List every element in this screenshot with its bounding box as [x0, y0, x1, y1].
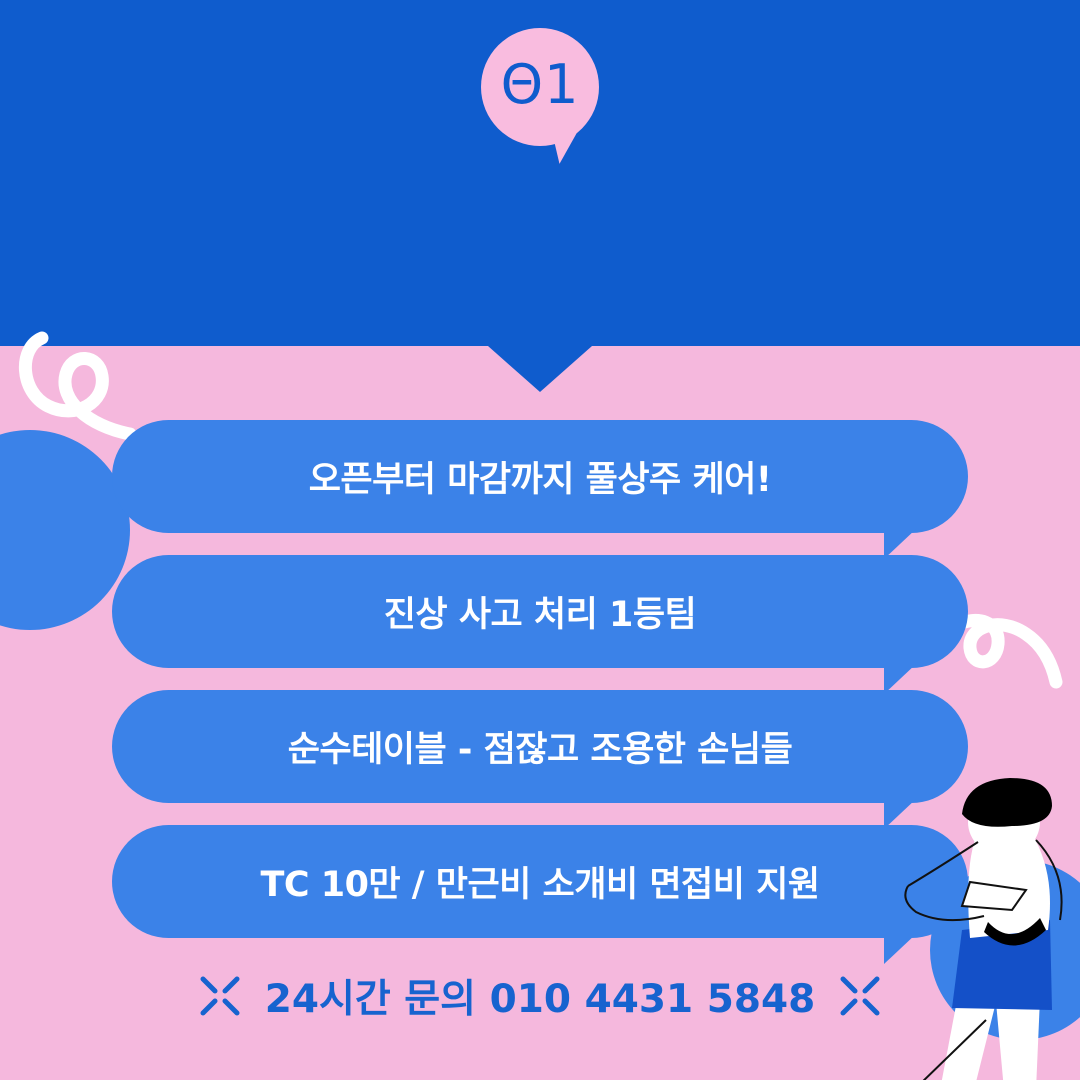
list-item[interactable]: 순수테이블 - 점잖고 조용한 손님들 — [112, 690, 968, 803]
sparkle-icon — [837, 973, 883, 1019]
bubble-3[interactable]: 순수테이블 - 점잖고 조용한 손님들 — [112, 690, 968, 803]
header-pointer-triangle — [488, 346, 592, 392]
loop-squiggle-icon — [952, 600, 1072, 700]
step-badge-label: Θ1 — [501, 58, 580, 112]
bubble-4-label: TC 10만 / 만근비 소개비 면접비 지원 — [260, 856, 819, 907]
sparkle-icon — [197, 973, 243, 1019]
list-item[interactable]: 오픈부터 마감까지 풀상주 케어! — [112, 420, 968, 533]
contact-phone-label: 24시간 문의 010 4431 5848 — [265, 968, 816, 1024]
bubble-4[interactable]: TC 10만 / 만근비 소개비 면접비 지원 — [112, 825, 968, 938]
bubble-3-label: 순수테이블 - 점잖고 조용한 손님들 — [288, 721, 793, 772]
bubble-1-label: 오픈부터 마감까지 풀상주 케어! — [309, 451, 772, 502]
list-item[interactable]: TC 10만 / 만근비 소개비 면접비 지원 — [112, 825, 968, 938]
bubble-1[interactable]: 오픈부터 마감까지 풀상주 케어! — [112, 420, 968, 533]
poster-canvas: Θ1 Let's start again! 오픈부터 마감까지 풀상주 케어! … — [0, 0, 1080, 1080]
woman-walking-illustration — [900, 770, 1080, 1080]
step-badge: Θ1 — [481, 28, 599, 146]
bubble-2[interactable]: 진상 사고 처리 1등팀 — [112, 555, 968, 668]
decor-blob-left — [0, 430, 130, 630]
bubble-2-label: 진상 사고 처리 1등팀 — [384, 586, 697, 637]
list-item[interactable]: 진상 사고 처리 1등팀 — [112, 555, 968, 668]
bubble-list: 오픈부터 마감까지 풀상주 케어! 진상 사고 처리 1등팀 순수테이블 - 점… — [112, 420, 968, 960]
